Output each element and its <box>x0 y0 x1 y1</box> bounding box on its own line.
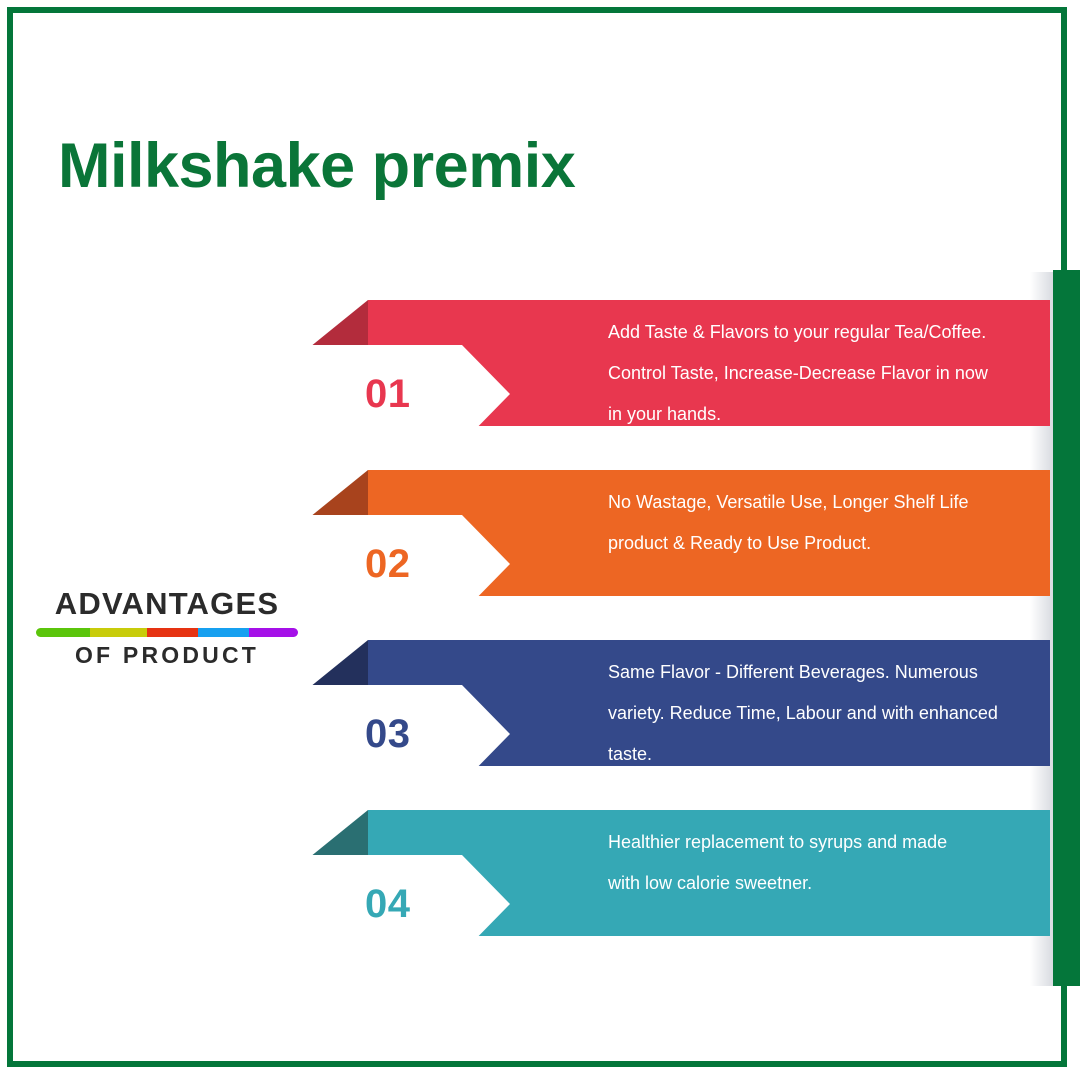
advantage-description-line: No Wastage, Versatile Use, Longer Shelf … <box>608 482 984 523</box>
advantage-number: 01 <box>365 372 411 417</box>
page-title: Milkshake premix <box>58 133 575 199</box>
advantage-description-line: with low calorie sweetner. <box>608 863 984 904</box>
color-divider-segment-5 <box>249 628 298 637</box>
ribbon-fold-icon <box>310 640 368 687</box>
color-divider-segment-1 <box>36 628 90 637</box>
advantage-description: Add Taste & Flavors to your regular Tea/… <box>608 312 984 435</box>
color-divider-segment-4 <box>198 628 249 637</box>
advantage-number: 03 <box>365 712 411 757</box>
section-label: ADVANTAGES OF PRODUCT <box>28 588 306 668</box>
advantage-description: Same Flavor - Different Beverages. Numer… <box>608 652 984 775</box>
advantage-description-line: taste. <box>608 734 984 775</box>
color-divider-segment-3 <box>147 628 198 637</box>
advantage-description-line: Healthier replacement to syrups and made <box>608 822 984 863</box>
infographic-canvas: Milkshake premix ADVANTAGES OF PRODUCT A… <box>0 0 1080 1080</box>
color-divider <box>36 628 298 637</box>
advantage-description-line: product & Ready to Use Product. <box>608 523 984 564</box>
ribbon-fold-icon <box>310 470 368 517</box>
advantage-number: 02 <box>365 542 411 587</box>
advantage-description: No Wastage, Versatile Use, Longer Shelf … <box>608 482 984 564</box>
advantage-description-line: variety. Reduce Time, Labour and with en… <box>608 693 984 734</box>
advantage-description-line: Add Taste & Flavors to your regular Tea/… <box>608 312 984 353</box>
advantage-description-line: Control Taste, Increase-Decrease Flavor … <box>608 353 984 394</box>
section-label-subheading: OF PRODUCT <box>28 643 306 668</box>
ribbon-fold-icon <box>310 300 368 347</box>
section-label-heading: ADVANTAGES <box>28 588 306 621</box>
ribbon-fold-icon <box>310 810 368 857</box>
advantage-description: Healthier replacement to syrups and made… <box>608 822 984 904</box>
advantage-number: 04 <box>365 882 411 927</box>
accent-vertical-bar <box>1053 270 1080 986</box>
advantage-description-line: Same Flavor - Different Beverages. Numer… <box>608 652 984 693</box>
color-divider-segment-2 <box>90 628 147 637</box>
advantage-description-line: in your hands. <box>608 394 984 435</box>
